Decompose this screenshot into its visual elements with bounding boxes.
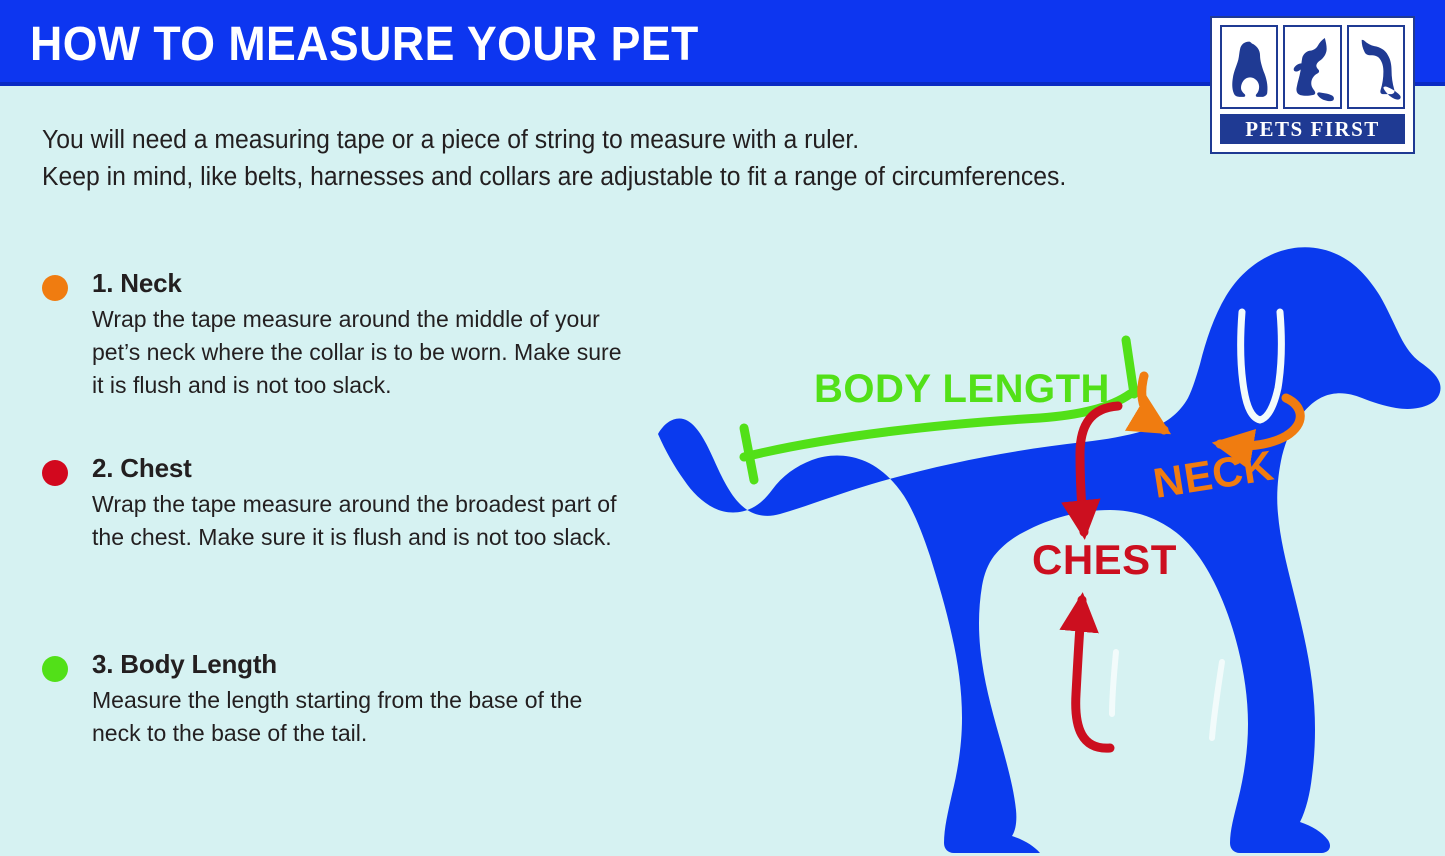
body-length-tick-neck <box>1126 340 1134 394</box>
step-item-body-length: 3. Body Length Measure the length starti… <box>42 649 642 750</box>
intro-line-1: You will need a measuring tape or a piec… <box>42 122 1158 159</box>
dog-chest-leg-divider <box>1112 652 1116 714</box>
intro-text: You will need a measuring tape or a piec… <box>42 122 1158 196</box>
logo-silhouette-frames <box>1220 25 1405 109</box>
page-title: HOW TO MEASURE YOUR PET <box>30 17 699 72</box>
step-title-neck: 1. Neck <box>92 268 642 299</box>
body-length-label: BODY LENGTH <box>814 367 1110 411</box>
step-body-chest: Wrap the tape measure around the broades… <box>92 488 631 554</box>
dog-sitting-silhouette-icon <box>1220 25 1278 109</box>
dog-begging-silhouette-icon <box>1283 25 1341 109</box>
neck-arrow-left <box>1142 376 1164 430</box>
intro-line-2: Keep in mind, like belts, harnesses and … <box>42 159 1158 196</box>
logo-wordmark: PETS FIRST <box>1220 114 1405 144</box>
bullet-chest-icon <box>42 460 68 486</box>
step-item-neck: 1. Neck Wrap the tape measure around the… <box>42 268 642 402</box>
step-item-chest: 2. Chest Wrap the tape measure around th… <box>42 453 642 554</box>
step-body-body-length: Measure the length starting from the bas… <box>92 684 631 750</box>
bullet-body-length-icon <box>42 656 68 682</box>
step-body-neck: Wrap the tape measure around the middle … <box>92 303 631 402</box>
logo-wordmark-text: PETS FIRST <box>1245 117 1380 142</box>
step-title-chest: 2. Chest <box>92 453 642 484</box>
step-title-body-length: 3. Body Length <box>92 649 642 680</box>
chest-arrow-bottom <box>1076 600 1110 748</box>
bullet-neck-icon <box>42 275 68 301</box>
dog-sitting-alert-silhouette-icon <box>1347 25 1405 109</box>
chest-label: CHEST <box>1032 536 1177 583</box>
dog-measurement-diagram: BODY LENGTH NECK CHEST <box>640 222 1445 856</box>
body-length-tick-tail <box>744 428 754 480</box>
dog-front-leg-divider <box>1212 662 1222 738</box>
pets-first-logo: PETS FIRST <box>1210 16 1415 154</box>
